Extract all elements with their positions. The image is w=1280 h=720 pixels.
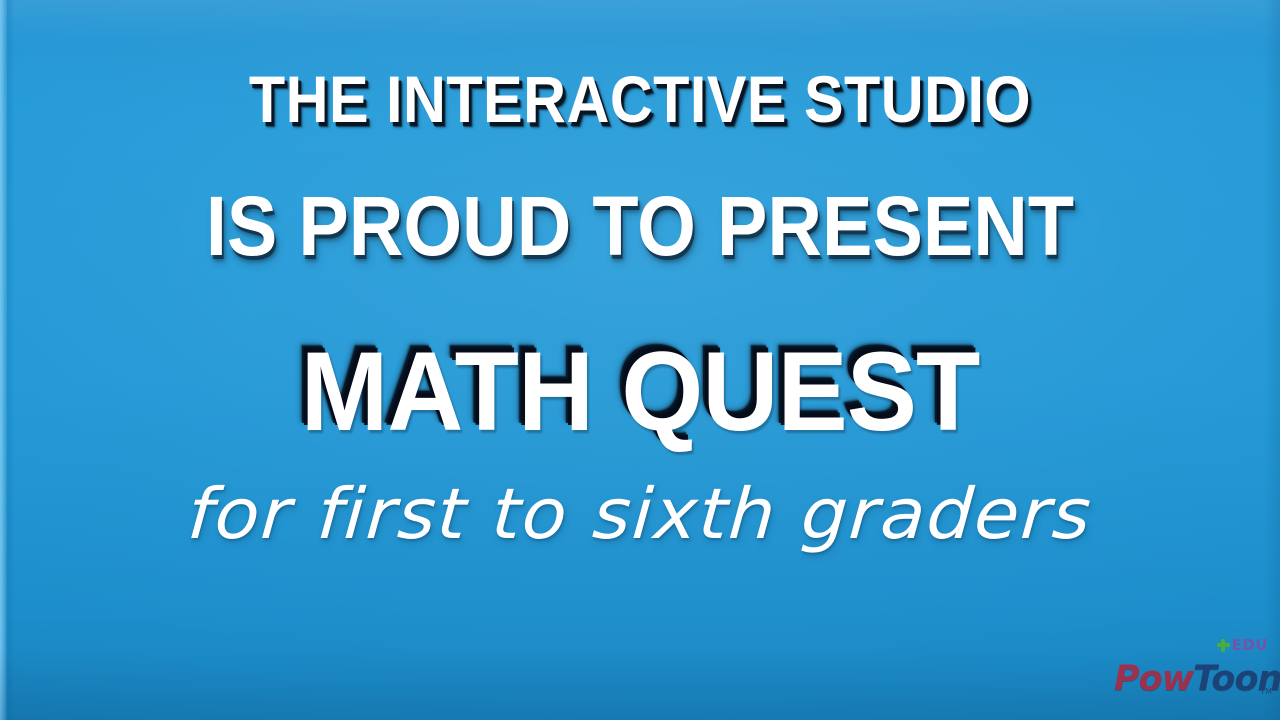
presentation-subtitle: for first to sixth graders <box>0 474 1280 554</box>
plus-icon <box>1217 639 1230 652</box>
powtoon-edu-label: EDU <box>1232 636 1268 654</box>
trademark-symbol: TM <box>1260 687 1272 696</box>
presentation-slide: THE INTERACTIVE STUDIO IS PROUD TO PRESE… <box>0 0 1280 720</box>
powtoon-pow-text: Pow <box>1114 659 1193 699</box>
headline-line-2: IS PROUD TO PRESENT <box>64 178 1216 274</box>
powtoon-edu-badge: EDU <box>1217 636 1268 654</box>
powtoon-logo[interactable]: EDU PowToon TM <box>1114 636 1272 698</box>
headline-line-1: THE INTERACTIVE STUDIO <box>64 62 1216 136</box>
powtoon-wordmark: PowToon <box>1114 660 1280 698</box>
slide-content: THE INTERACTIVE STUDIO IS PROUD TO PRESE… <box>0 0 1280 720</box>
presentation-title: MATH QUEST <box>38 330 1241 454</box>
